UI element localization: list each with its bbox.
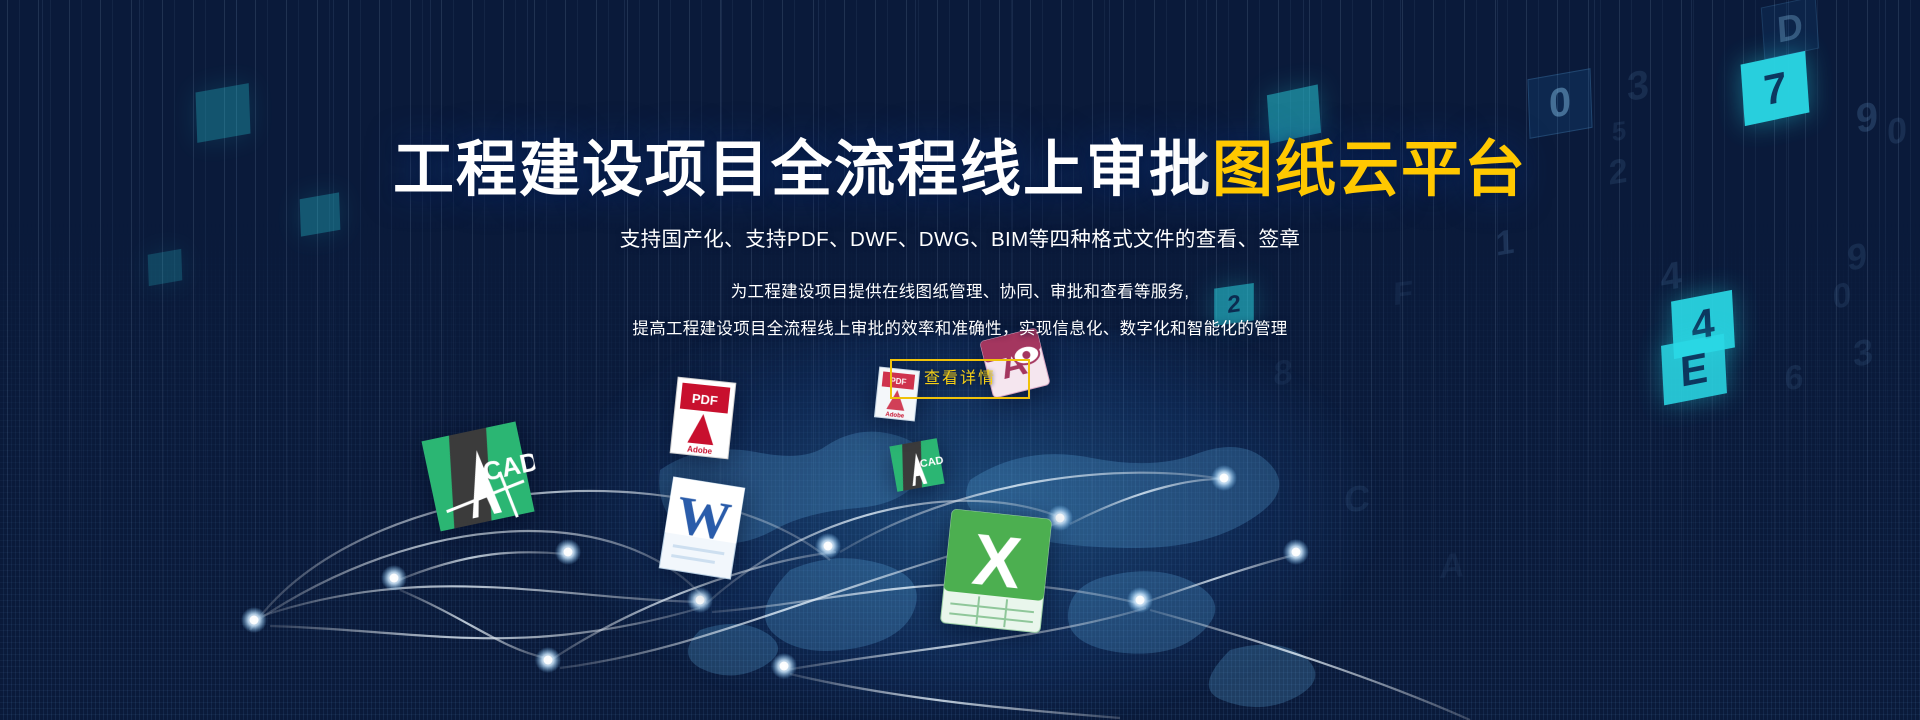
network-node-core bbox=[1220, 474, 1229, 483]
excel-icon: X bbox=[938, 507, 1054, 635]
autocad-small-icon: CAD bbox=[886, 434, 949, 497]
network-node-core bbox=[696, 596, 705, 605]
autocad-icon: CAD bbox=[414, 410, 547, 543]
svg-text:X: X bbox=[969, 520, 1025, 605]
page-title-highlight: 图纸云平台 bbox=[1212, 135, 1527, 203]
view-details-button[interactable]: 查看详情 bbox=[890, 359, 1030, 399]
network-node-core bbox=[1056, 514, 1065, 523]
hero-copy-block: 工程建设项目全流程线上审批图纸云平台 支持国产化、支持PDF、DWF、DWG、B… bbox=[0, 0, 1920, 399]
svg-text:Adobe: Adobe bbox=[885, 412, 905, 420]
lead-line-2: 提高工程建设项目全流程线上审批的效率和准确性，实现信息化、数字化和智能化的管理 bbox=[0, 315, 1920, 339]
page-title-white: 工程建设项目全流程线上审批 bbox=[393, 135, 1212, 203]
network-node-core bbox=[1292, 548, 1301, 557]
lead-line-1: 为工程建设项目提供在线图纸管理、协同、审批和查看等服务, bbox=[0, 278, 1920, 302]
page-subtitle: 支持国产化、支持PDF、DWF、DWG、BIM等四种格式文件的查看、签章 bbox=[0, 222, 1920, 252]
network-node-core bbox=[250, 616, 259, 625]
network-nodes bbox=[241, 465, 1309, 679]
network-node-core bbox=[564, 548, 573, 557]
svg-text:W: W bbox=[672, 484, 735, 552]
hero-banner: 079D3250144E9036C82AF bbox=[0, 0, 1920, 720]
network-node-core bbox=[780, 662, 789, 671]
page-title: 工程建设项目全流程线上审批图纸云平台 bbox=[0, 137, 1920, 202]
network-node-core bbox=[824, 542, 833, 551]
word-icon: W bbox=[657, 475, 747, 582]
network-node-core bbox=[390, 574, 399, 583]
network-node-core bbox=[1136, 596, 1145, 605]
network-node-core bbox=[544, 656, 553, 665]
